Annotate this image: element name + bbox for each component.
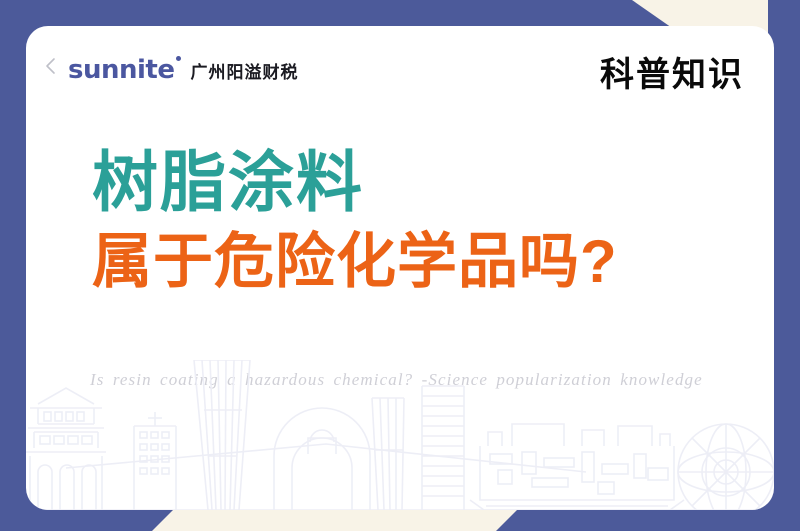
poster-canvas: sunnite 广州阳溢财税 科普知识 树脂涂料 属于危险化学品吗? Is re… bbox=[0, 0, 800, 531]
content-card: sunnite 广州阳溢财税 科普知识 树脂涂料 属于危险化学品吗? Is re… bbox=[26, 26, 774, 510]
logo-wordmark: sunnite bbox=[68, 55, 174, 85]
page-title-line-1: 树脂涂料 bbox=[92, 146, 752, 220]
chevron-left-icon[interactable] bbox=[42, 57, 60, 75]
sunnite-logo[interactable]: sunnite bbox=[68, 57, 174, 83]
guangzhou-skyline-icon bbox=[26, 360, 774, 510]
registered-dot-icon bbox=[176, 56, 181, 61]
page-title-line-2: 属于危险化学品吗? bbox=[92, 228, 752, 295]
brand-group[interactable]: sunnite 广州阳溢财税 bbox=[42, 57, 298, 83]
kicker-badge: 科普知识 bbox=[600, 58, 744, 92]
brand-name: 广州阳溢财税 bbox=[190, 58, 298, 83]
title-block: 树脂涂料 属于危险化学品吗? bbox=[92, 146, 752, 295]
